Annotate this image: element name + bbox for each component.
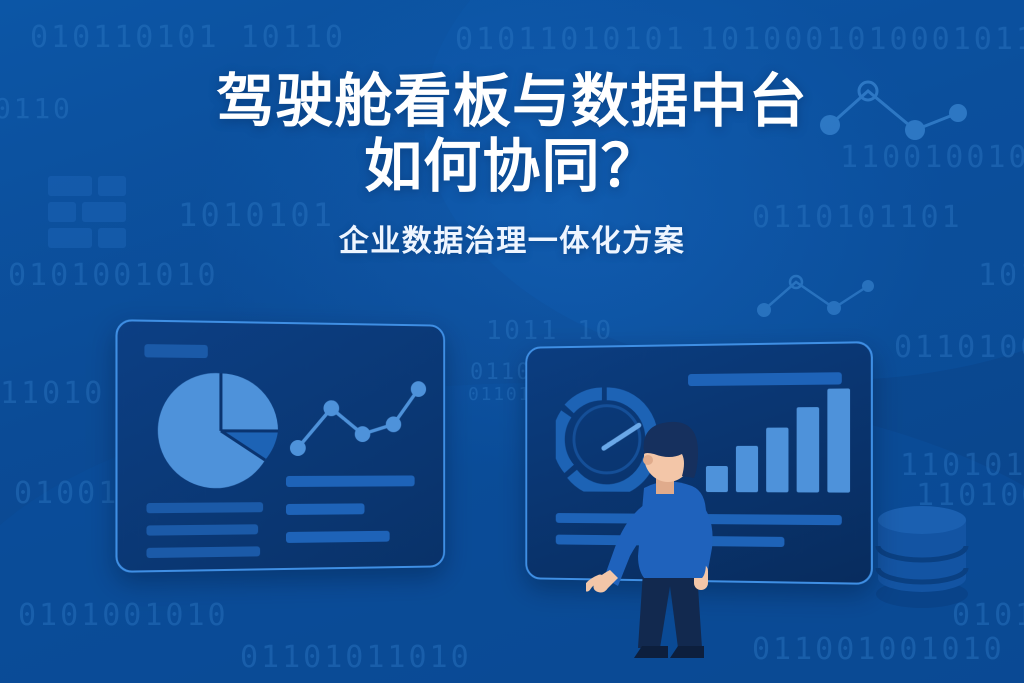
pie-chart bbox=[157, 367, 284, 495]
binary-string: 01011010101 bbox=[455, 22, 687, 57]
person-shoe-right bbox=[670, 646, 704, 658]
binary-string: 011001001010 bbox=[752, 632, 1005, 667]
hero-subtitle: 企业数据治理一体化方案 bbox=[0, 216, 1024, 260]
dashboard-panel-left[interactable] bbox=[115, 319, 445, 573]
hero-text-block: 驾驶舱看板与数据中台 如何协同？ 企业数据治理一体化方案 bbox=[0, 70, 1024, 260]
panel-left-text-line-3 bbox=[146, 546, 260, 558]
bar-5 bbox=[827, 388, 850, 492]
panel-left-text-line-1 bbox=[146, 502, 263, 513]
hero-title-line-1: 驾驶舱看板与数据中台 bbox=[0, 70, 1024, 135]
binary-string: 10100010100010110 bbox=[700, 22, 1024, 57]
person-ear bbox=[643, 455, 653, 465]
binary-string: 0101001010 bbox=[18, 598, 229, 633]
panel-left-text-line-5 bbox=[286, 503, 365, 515]
panel-left-text-line-4 bbox=[286, 475, 415, 487]
bar-3 bbox=[766, 428, 788, 493]
binary-string: 11010 bbox=[0, 376, 105, 411]
binary-string: 0110100 bbox=[894, 330, 1024, 365]
binary-string: 01001 bbox=[14, 476, 119, 511]
poster-canvas: 010110101 101100101101010110100010100010… bbox=[0, 0, 1024, 683]
binary-string: 010110101 10110 bbox=[30, 20, 346, 55]
person-presenter bbox=[586, 418, 746, 683]
line-chart bbox=[288, 376, 428, 468]
node-graph-icon-2 bbox=[756, 268, 876, 333]
panel-left-text-line-2 bbox=[146, 524, 258, 535]
binary-string: 01101011010 bbox=[240, 640, 472, 675]
binary-string: 0101001010 bbox=[8, 258, 219, 293]
hero-title-line-2: 如何协同？ bbox=[0, 135, 1024, 200]
panel-left-header-bar bbox=[144, 344, 207, 358]
binary-string: 1011 10 bbox=[486, 316, 614, 346]
panel-left-text-line-6 bbox=[286, 531, 390, 543]
binary-string: 1010 bbox=[978, 258, 1024, 293]
panel-right-header-bar bbox=[688, 372, 842, 386]
bar-4 bbox=[797, 407, 820, 492]
database-cylinder-icon bbox=[872, 498, 972, 615]
